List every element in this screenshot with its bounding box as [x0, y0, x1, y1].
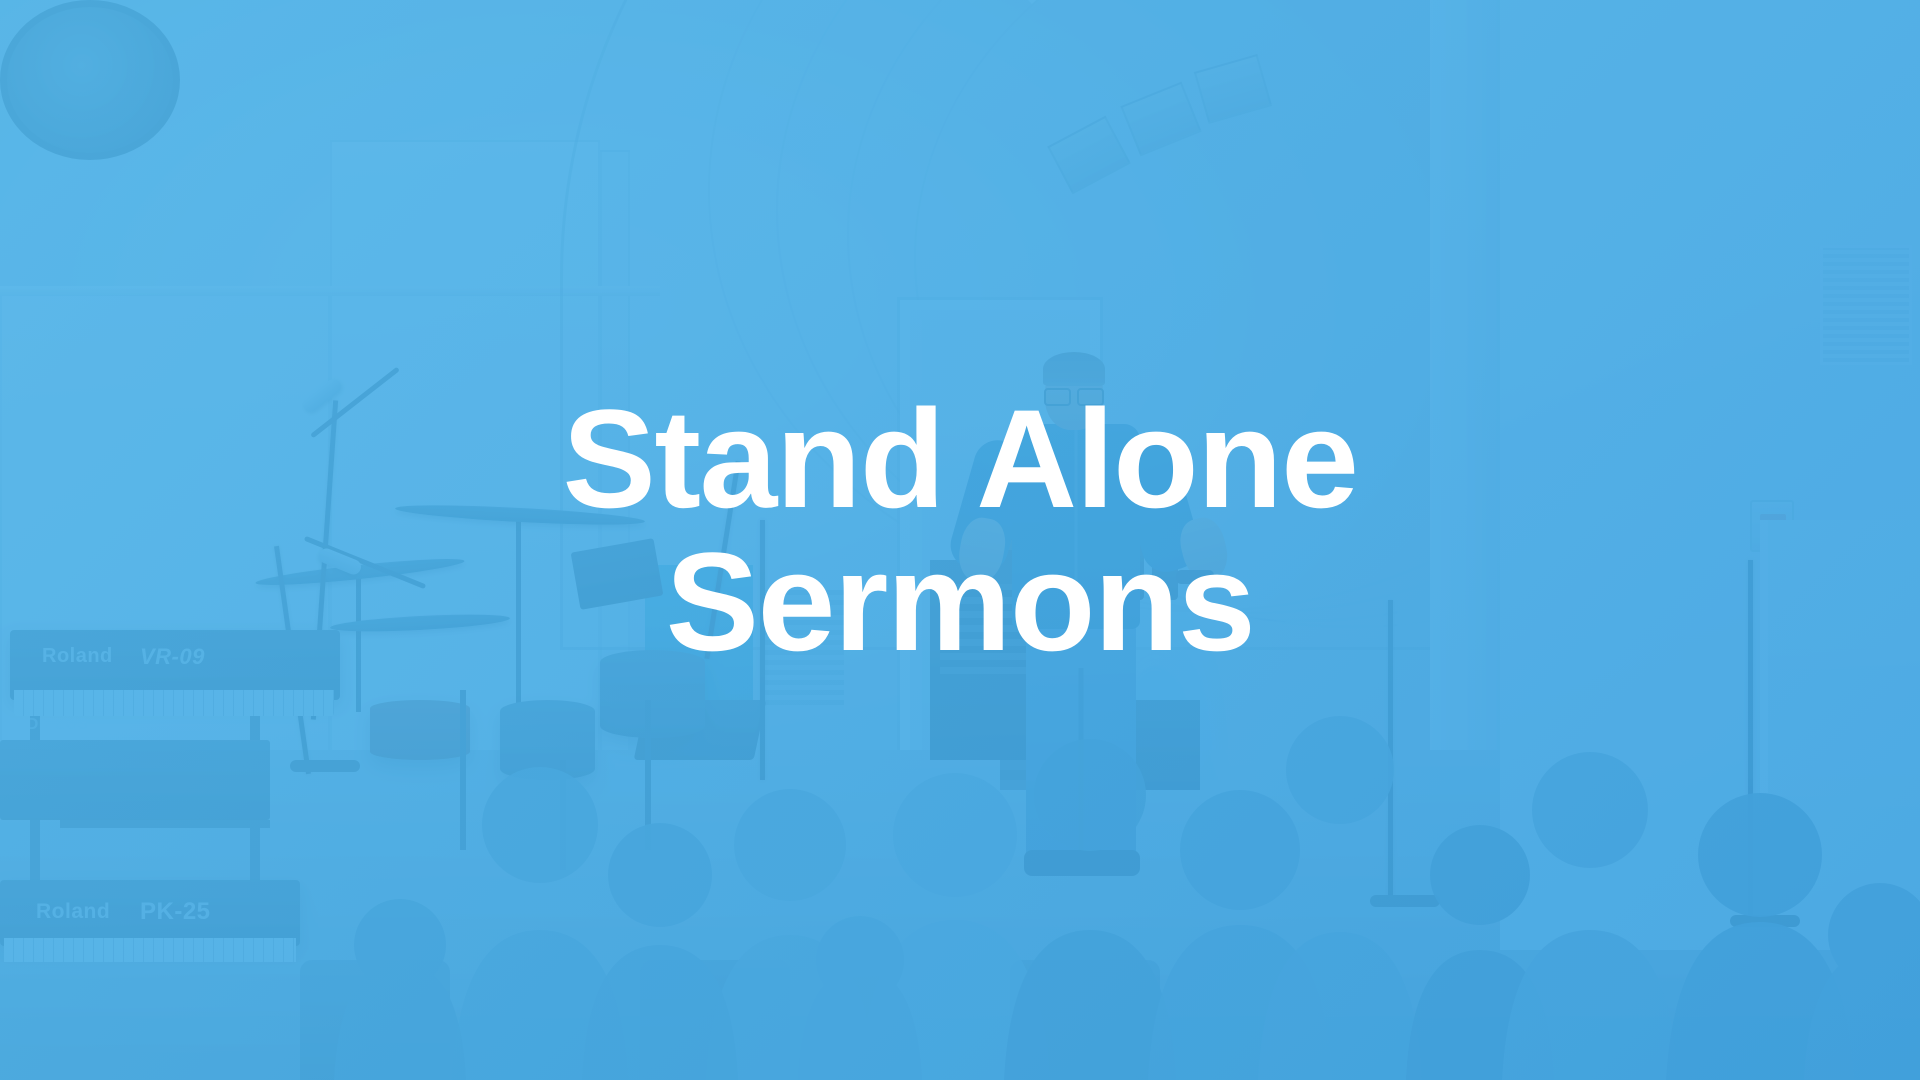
series-title-block: Stand Alone Sermons	[0, 0, 1920, 1080]
series-title-line-2: Sermons	[666, 531, 1255, 674]
series-title-line-1: Stand Alone	[563, 388, 1358, 531]
sermon-series-banner: Roland VR-09 MIDIPLUS Roland PK-25	[0, 0, 1920, 1080]
